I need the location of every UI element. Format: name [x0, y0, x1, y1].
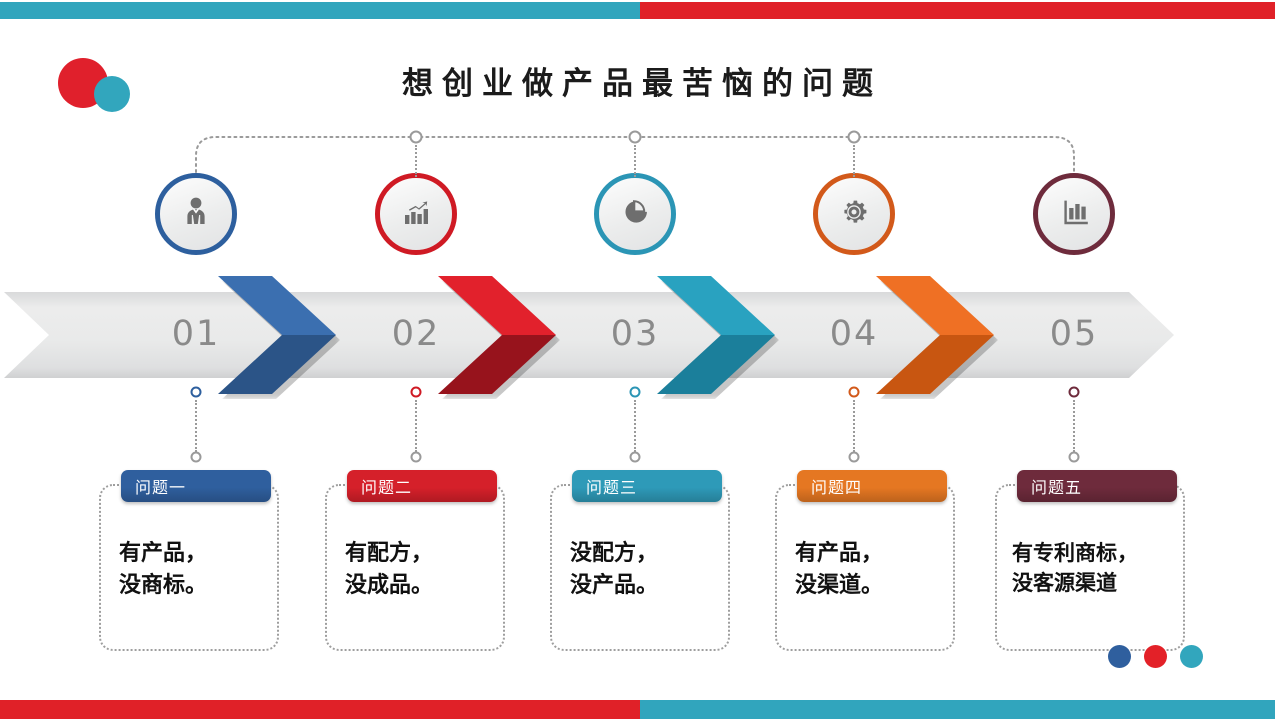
top-bar-right-segment [640, 2, 1275, 19]
lower-node-stem-01 [195, 400, 197, 452]
lower-node-dot-02 [411, 387, 422, 398]
card-line-05-1: 有专利商标， [1012, 538, 1175, 568]
bar-chart-growth-icon [399, 195, 433, 234]
card-line-03-1: 没配方， [570, 538, 720, 570]
card-line-03-2: 没产品。 [570, 570, 720, 602]
footer-decoration-dots [1108, 645, 1203, 668]
footer-dot-teal [1180, 645, 1203, 668]
bottom-bar-left-segment [0, 700, 640, 719]
footer-dot-red [1144, 645, 1167, 668]
gear-icon [837, 195, 871, 234]
chevron-upper-03 [657, 276, 775, 335]
card-tag-02: 问题二 [347, 470, 497, 502]
businessperson-icon-glyph [179, 195, 213, 229]
card-tag-05: 问题五 [1017, 470, 1177, 502]
step-icon-04[interactable] [818, 178, 890, 250]
step-number-04: 04 [830, 314, 879, 354]
bar-chart-axis-icon [1057, 195, 1091, 234]
lower-node-dot-01 [191, 387, 202, 398]
chevron-lower-02 [438, 335, 556, 394]
lower-node-dot-03 [630, 387, 641, 398]
step-number-03: 03 [611, 314, 660, 354]
chevron-upper-01 [218, 276, 336, 335]
card-line-01-1: 有产品， [119, 538, 269, 570]
problem-card-01[interactable]: 问题一有产品，没商标。 [99, 484, 279, 651]
lower-node-stem-04 [853, 400, 855, 452]
chevron-03 [657, 276, 775, 394]
chevron-lower-03 [657, 335, 775, 394]
top-node-dot-03 [629, 131, 642, 144]
card-anchor-dot-03 [630, 452, 641, 463]
page-title: 想创业做产品最苦恼的问题 [0, 58, 1275, 103]
card-body-02: 有配方，没成品。 [345, 538, 495, 602]
chevron-01 [218, 276, 336, 394]
bottom-accent-bar [0, 700, 1275, 719]
pie-chart-icon-glyph [618, 195, 652, 229]
problem-card-05[interactable]: 问题五有专利商标，没客源渠道 [995, 484, 1185, 651]
top-bar-left-segment [0, 2, 640, 19]
card-tag-04: 问题四 [797, 470, 947, 502]
process-arrow-banner: 0102030405 [4, 292, 1174, 378]
gear-icon-glyph [837, 195, 871, 229]
card-body-03: 没配方，没产品。 [570, 538, 720, 602]
problem-card-04[interactable]: 问题四有产品，没渠道。 [775, 484, 955, 651]
card-body-04: 有产品，没渠道。 [795, 538, 945, 602]
top-node-dot-04 [848, 131, 861, 144]
card-tag-03: 问题三 [572, 470, 722, 502]
step-number-05: 05 [1050, 314, 1099, 354]
card-body-05: 有专利商标，没客源渠道 [1012, 538, 1175, 599]
businessperson-icon [179, 195, 213, 234]
step-number-02: 02 [392, 314, 441, 354]
card-line-04-2: 没渠道。 [795, 570, 945, 602]
card-anchor-dot-05 [1069, 452, 1080, 463]
lower-node-dot-04 [849, 387, 860, 398]
pie-chart-icon [618, 195, 652, 234]
top-node-stem-04 [853, 145, 855, 177]
problem-card-02[interactable]: 问题二有配方，没成品。 [325, 484, 505, 651]
card-anchor-dot-02 [411, 452, 422, 463]
footer-dot-blue [1108, 645, 1131, 668]
chevron-upper-02 [438, 276, 556, 335]
card-anchor-dot-04 [849, 452, 860, 463]
lower-node-stem-02 [415, 400, 417, 452]
lower-node-dot-05 [1069, 387, 1080, 398]
problem-card-03[interactable]: 问题三没配方，没产品。 [550, 484, 730, 651]
card-tag-01: 问题一 [121, 470, 271, 502]
card-body-01: 有产品，没商标。 [119, 538, 269, 602]
card-line-02-1: 有配方， [345, 538, 495, 570]
chevron-02 [438, 276, 556, 394]
step-icon-01[interactable] [160, 178, 232, 250]
slide-canvas: 想创业做产品最苦恼的问题 0102030405 问题一有产品，没商标。问题二有配… [0, 0, 1275, 719]
bottom-bar-right-segment [640, 700, 1275, 719]
card-line-05-2: 没客源渠道 [1012, 568, 1175, 598]
bar-chart-axis-icon-glyph [1057, 195, 1091, 229]
step-icon-03[interactable] [599, 178, 671, 250]
top-accent-bar [0, 2, 1275, 19]
bar-chart-growth-icon-glyph [399, 195, 433, 229]
card-line-04-1: 有产品， [795, 538, 945, 570]
chevron-lower-04 [876, 335, 994, 394]
top-node-stem-02 [415, 145, 417, 177]
step-number-01: 01 [172, 314, 221, 354]
lower-node-stem-05 [1073, 400, 1075, 452]
chevron-04 [876, 276, 994, 394]
chevron-lower-01 [218, 335, 336, 394]
step-icon-05[interactable] [1038, 178, 1110, 250]
card-anchor-dot-01 [191, 452, 202, 463]
step-icon-02[interactable] [380, 178, 452, 250]
chevron-upper-04 [876, 276, 994, 335]
card-line-02-2: 没成品。 [345, 570, 495, 602]
lower-node-stem-03 [634, 400, 636, 452]
card-line-01-2: 没商标。 [119, 570, 269, 602]
top-node-dot-02 [410, 131, 423, 144]
top-node-stem-03 [634, 145, 636, 177]
